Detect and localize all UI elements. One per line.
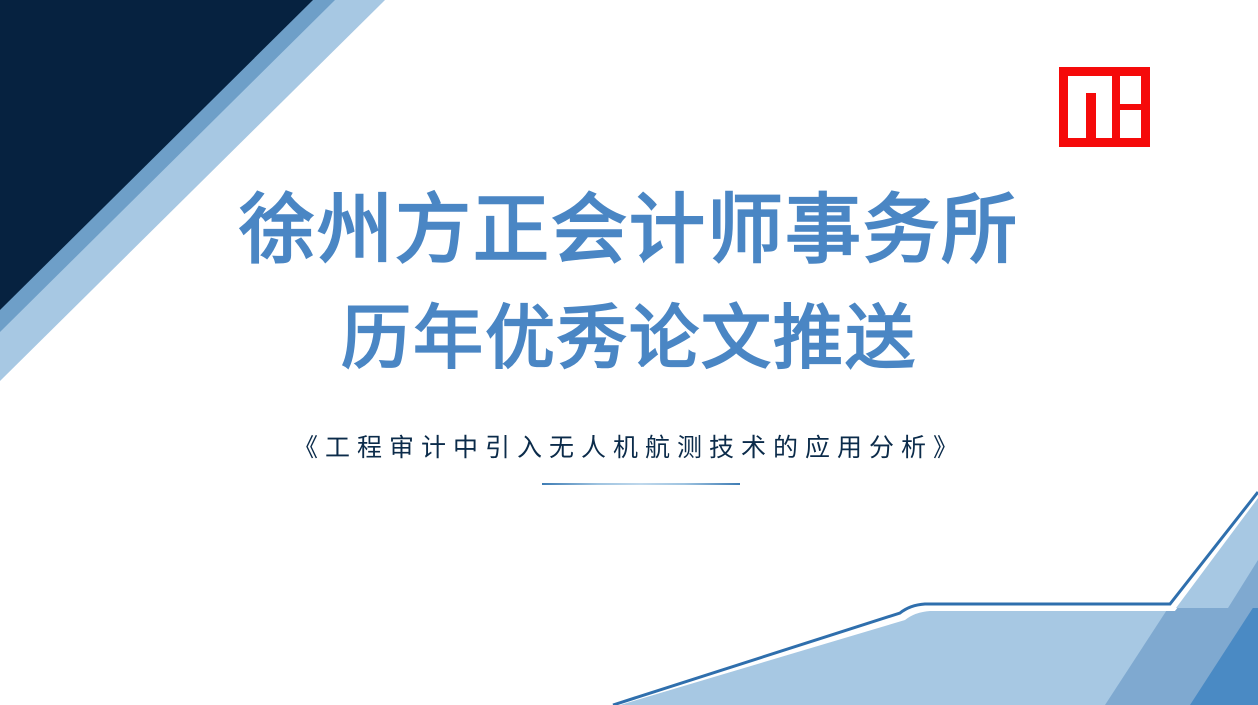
title-text-block: 徐州方正会计师事务所 历年优秀论文推送 《工程审计中引入无人机航测技术的应用分析…	[0, 0, 1258, 705]
page-title-line-1: 徐州方正会计师事务所	[0, 193, 1258, 269]
title-divider	[542, 483, 740, 485]
paper-title: 《工程审计中引入无人机航测技术的应用分析》	[0, 428, 1258, 464]
slide-canvas: 徐州方正会计师事务所 历年优秀论文推送 《工程审计中引入无人机航测技术的应用分析…	[0, 0, 1258, 705]
page-title-line-2: 历年优秀论文推送	[0, 303, 1258, 373]
